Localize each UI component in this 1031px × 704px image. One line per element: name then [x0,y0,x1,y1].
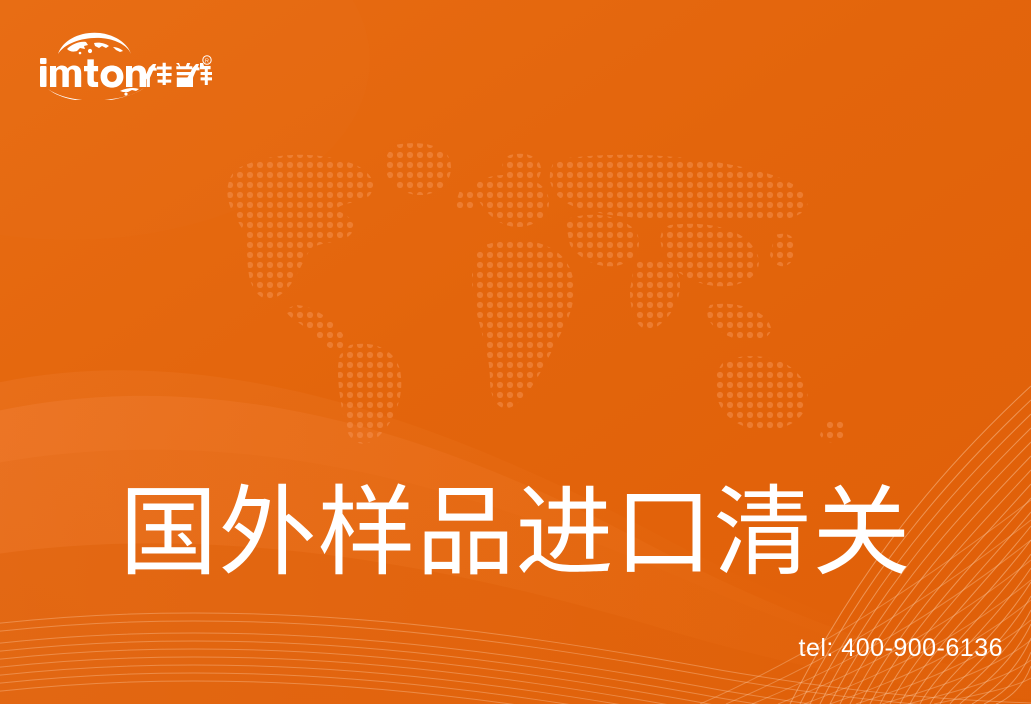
svg-text:R: R [205,58,209,64]
registered-mark-icon: R [203,56,211,65]
imton-logo[interactable]: R [36,27,212,100]
globe-icon [58,33,131,55]
page-title: 国外样品进口清关 代理公司 [0,222,1031,704]
swoosh-icon [48,88,144,100]
logo-wordmark [40,58,146,88]
promo-banner: R 国外样品进口清关 代理公司 tel: 400-900-6136 [0,0,1031,704]
headline-line-1: 国外样品进口清关 [0,470,1031,594]
contact-phone[interactable]: tel: 400-900-6136 [799,634,1003,663]
logo-chinese-name [144,63,212,87]
